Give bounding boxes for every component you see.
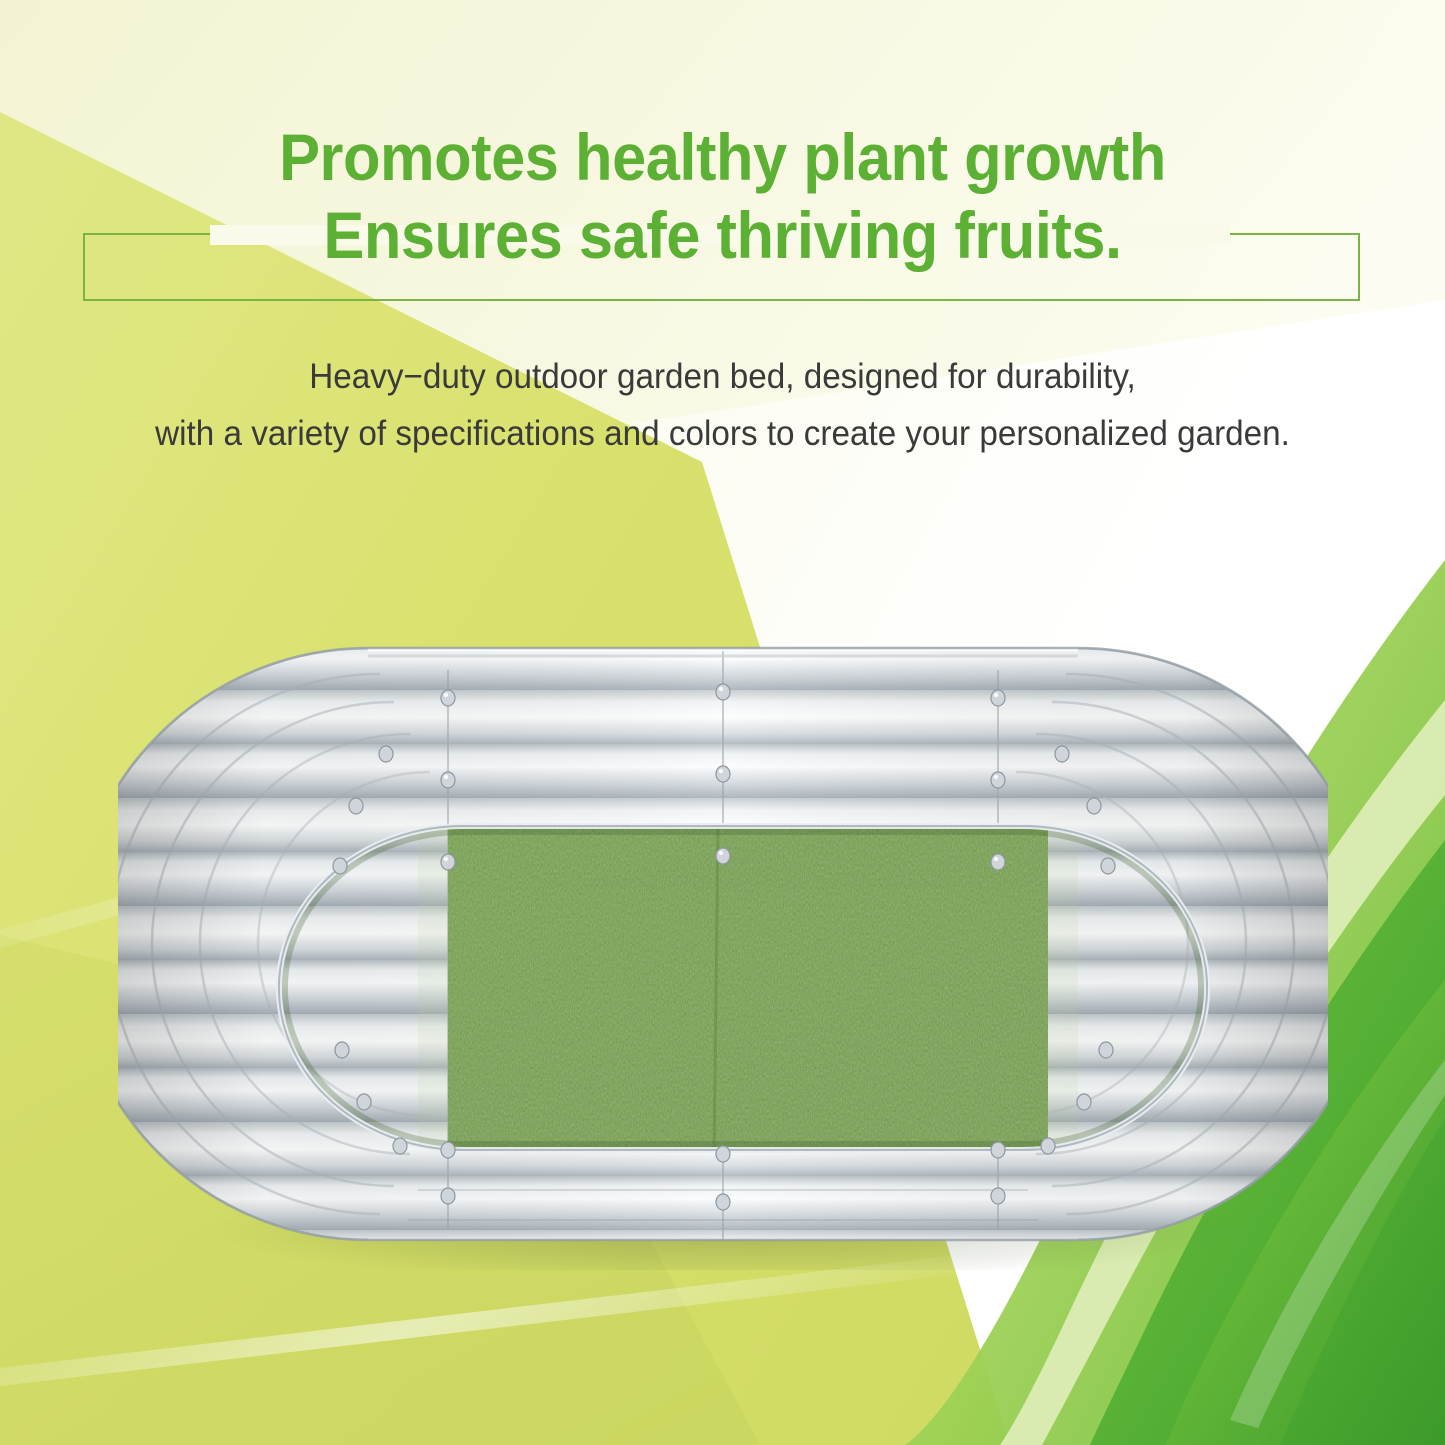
page-subtitle: Heavy−duty outdoor garden bed, designed … [36, 348, 1409, 462]
page-title: Promotes healthy plant growth Ensures sa… [51, 118, 1395, 274]
product-banner: Promotes healthy plant growth Ensures sa… [0, 0, 1445, 1445]
product-image [118, 630, 1328, 1270]
